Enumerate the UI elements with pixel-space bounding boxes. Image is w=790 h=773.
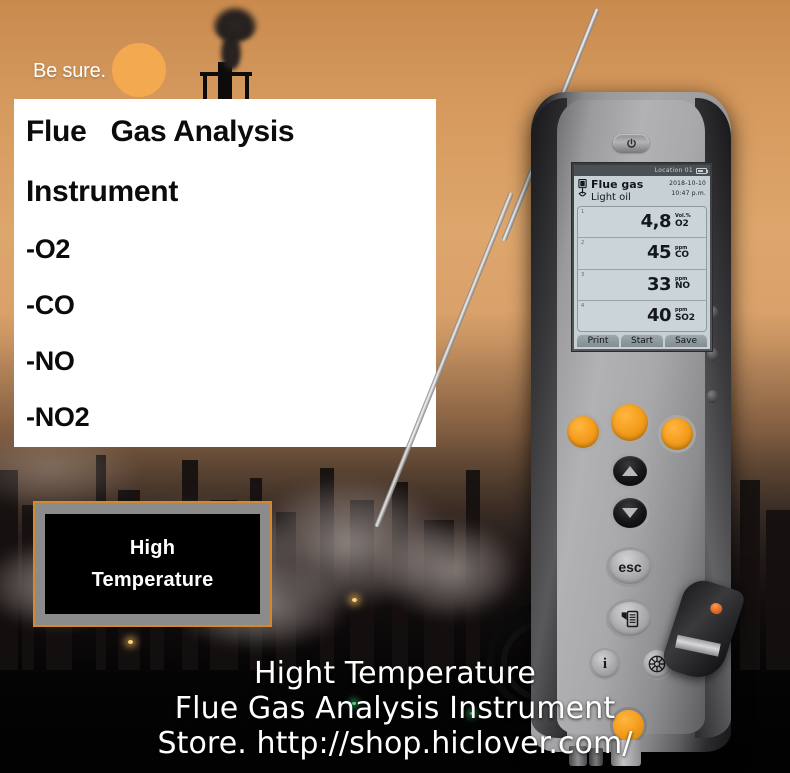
nav-up-button[interactable] bbox=[613, 456, 647, 486]
silhouette bbox=[276, 512, 296, 670]
brand-logo: Be sure. bbox=[33, 45, 166, 97]
menu-button[interactable] bbox=[609, 602, 651, 636]
lcd-header-right: 2018-10-10 10:47 p.m. bbox=[669, 179, 706, 199]
overlay-line1: Hight Temperature bbox=[0, 656, 790, 691]
reading-value: 33 bbox=[647, 276, 671, 294]
reading-index: 2 bbox=[581, 240, 584, 246]
lcd-screen-frame: Location 01 Flue gas Light oil bbox=[571, 162, 713, 352]
silhouette bbox=[350, 500, 374, 670]
night-lamp bbox=[128, 640, 133, 644]
high-temperature-badge: High Temperature bbox=[33, 501, 272, 627]
lcd-header: Flue gas Light oil 2018-10-10 10:47 p.m. bbox=[574, 176, 710, 205]
nav-down-button[interactable] bbox=[613, 498, 647, 528]
arrow-down-icon bbox=[622, 508, 638, 518]
function-key-right[interactable] bbox=[661, 418, 693, 450]
softkey-start[interactable]: Start bbox=[621, 334, 663, 347]
silhouette bbox=[320, 468, 334, 670]
probe-indicator-icon bbox=[709, 601, 724, 615]
brand-dot-icon bbox=[112, 43, 166, 97]
reading-value: 40 bbox=[647, 307, 671, 325]
power-icon bbox=[626, 138, 637, 149]
battery-fill bbox=[698, 170, 703, 172]
reading-unit-group: ppm SO2 bbox=[675, 308, 701, 323]
reading-value: 4,8 bbox=[641, 213, 671, 231]
silhouette bbox=[392, 482, 408, 670]
feature-item-co: -CO bbox=[26, 290, 436, 321]
steam-cloud bbox=[380, 520, 520, 620]
lcd-time-label: 10:47 p.m. bbox=[669, 189, 706, 199]
flue-gas-analyzer-device: Location 01 Flue gas Light oil bbox=[523, 52, 738, 752]
smoke-plume bbox=[212, 6, 258, 42]
high-temp-line1: High bbox=[130, 537, 175, 560]
lcd-screen[interactable]: Location 01 Flue gas Light oil bbox=[574, 165, 710, 349]
reading-gas: O2 bbox=[675, 220, 701, 230]
overlay-line2: Flue Gas Analysis Instrument bbox=[0, 691, 790, 726]
bottom-overlay-text: Hight Temperature Flue Gas Analysis Inst… bbox=[0, 656, 790, 761]
reading-index: 1 bbox=[581, 209, 584, 215]
silhouette bbox=[0, 470, 18, 670]
power-button[interactable] bbox=[613, 134, 649, 152]
flare-stack-platform bbox=[200, 72, 252, 76]
feature-item-no2: -NO2 bbox=[26, 402, 436, 433]
reading-gas: NO bbox=[675, 282, 701, 292]
reading-index: 3 bbox=[581, 272, 584, 278]
probe-metal-band bbox=[675, 635, 721, 657]
grip-bump bbox=[707, 390, 718, 403]
reading-unit-group: ppm NO bbox=[675, 277, 701, 292]
high-temperature-badge-inner: High Temperature bbox=[45, 514, 260, 614]
lcd-mode-label: Flue gas bbox=[591, 179, 669, 191]
lcd-header-left: Flue gas Light oil bbox=[591, 179, 669, 203]
silhouette bbox=[466, 470, 480, 670]
document-menu-icon bbox=[620, 609, 640, 629]
silhouette bbox=[424, 520, 454, 670]
function-key-center[interactable] bbox=[611, 404, 648, 441]
reading-row-so2[interactable]: 4 40 ppm SO2 bbox=[578, 301, 706, 331]
night-lamp bbox=[352, 598, 357, 602]
esc-button[interactable]: esc bbox=[609, 550, 651, 584]
silhouette bbox=[766, 510, 790, 670]
softkey-print[interactable]: Print bbox=[577, 334, 619, 347]
reading-row-co[interactable]: 2 45 ppm CO bbox=[578, 238, 706, 269]
lcd-date-label: 2018-10-10 bbox=[669, 179, 706, 189]
smoke-plume bbox=[220, 30, 242, 70]
panel-title-line1: Flue Gas Analysis bbox=[26, 115, 436, 149]
steam-cloud bbox=[250, 478, 450, 608]
reading-unit-group: ppm CO bbox=[675, 246, 701, 261]
reading-unit-group: Vol.% O2 bbox=[675, 214, 701, 229]
fuel-burner-icon bbox=[577, 179, 588, 199]
lcd-location-label: Location 01 bbox=[655, 167, 693, 174]
panel-title-line2: Instrument bbox=[26, 175, 436, 209]
function-key-left[interactable] bbox=[567, 416, 599, 448]
feature-item-o2: -O2 bbox=[26, 234, 436, 265]
reading-row-no[interactable]: 3 33 ppm NO bbox=[578, 270, 706, 301]
softkey-save[interactable]: Save bbox=[665, 334, 707, 347]
feature-item-no: -NO bbox=[26, 346, 436, 377]
lcd-status-bar: Location 01 bbox=[574, 165, 710, 176]
silhouette bbox=[740, 480, 760, 670]
brand-slogan: Be sure. bbox=[33, 60, 106, 83]
reading-row-o2[interactable]: 1 4,8 Vol.% O2 bbox=[578, 207, 706, 238]
reading-index: 4 bbox=[581, 303, 584, 309]
overlay-line3: Store. http://shop.hiclover.com/ bbox=[0, 726, 790, 761]
battery-icon bbox=[696, 168, 707, 174]
reading-gas: SO2 bbox=[675, 314, 701, 324]
reading-value: 45 bbox=[647, 244, 671, 262]
arrow-up-icon bbox=[622, 466, 638, 476]
lcd-readings-list: 1 4,8 Vol.% O2 2 45 ppm bbox=[577, 206, 707, 332]
reading-gas: CO bbox=[675, 251, 701, 261]
high-temp-line2: Temperature bbox=[92, 569, 214, 592]
lcd-softkey-bar: Print Start Save bbox=[574, 332, 710, 349]
lcd-fuel-label: Light oil bbox=[591, 192, 669, 204]
product-info-panel: Flue Gas Analysis Instrument -O2 -CO -NO… bbox=[14, 99, 436, 447]
